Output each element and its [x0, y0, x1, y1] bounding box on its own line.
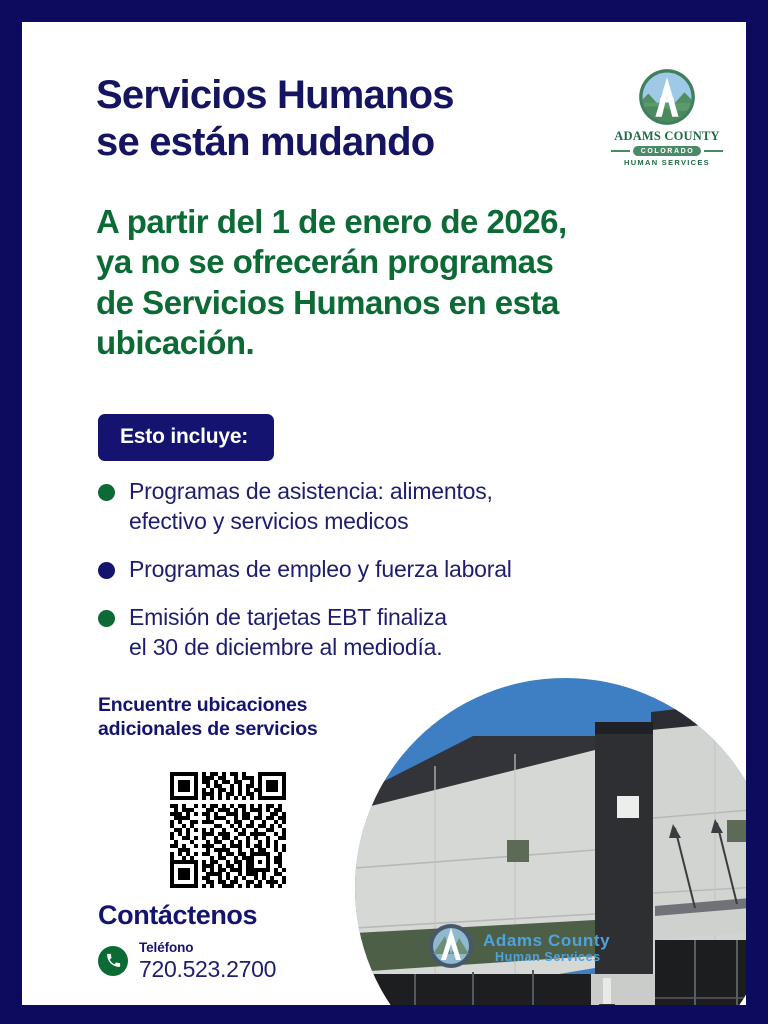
- title-line-2: se están mudando: [96, 119, 566, 166]
- contact-title: Contáctenos: [98, 900, 276, 931]
- find-line-1: Encuentre ubicaciones: [98, 694, 408, 718]
- list-item: Emisión de tarjetas EBT finaliza el 30 d…: [98, 603, 698, 663]
- lead-line-4: ubicación.: [96, 323, 706, 363]
- phone-label: Teléfono: [139, 940, 193, 955]
- bullet-dot-icon: [98, 610, 115, 627]
- list-item-line-2: el 30 de diciembre al mediodía.: [129, 634, 442, 660]
- svg-text:Adams County: Adams County: [483, 931, 610, 950]
- qr-code-icon[interactable]: [170, 772, 286, 888]
- building-photo: Adams County Human Services: [355, 678, 746, 1005]
- list-item-line-1: Programas de asistencia: alimentos,: [129, 478, 493, 504]
- poster-root: Servicios Humanos se están mudando: [0, 0, 768, 1024]
- lead-line-3: de Servicios Humanos en esta: [96, 283, 706, 323]
- includes-badge: Esto incluye:: [98, 414, 274, 461]
- page-title: Servicios Humanos se están mudando: [96, 72, 566, 166]
- list-item-line-1: Programas de empleo y fuerza laboral: [129, 556, 512, 582]
- adams-county-logo: ADAMS COUNTY COLORADO HUMAN SERVICES: [611, 68, 723, 167]
- mountain-emblem-icon: [638, 68, 696, 126]
- list-item-text: Emisión de tarjetas EBT finaliza el 30 d…: [129, 603, 447, 663]
- list-item: Programas de empleo y fuerza laboral: [98, 555, 698, 585]
- list-item-text: Programas de asistencia: alimentos, efec…: [129, 477, 493, 537]
- title-line-1: Servicios Humanos: [96, 72, 566, 119]
- logo-rule: COLORADO: [611, 146, 723, 156]
- logo-department: HUMAN SERVICES: [611, 158, 723, 167]
- lead-line-2: ya no se ofrecerán programas: [96, 242, 706, 282]
- list-item-line-2: efectivo y servicios medicos: [129, 508, 408, 534]
- phone-icon: [98, 946, 128, 976]
- find-line-2: adicionales de servicios: [98, 718, 408, 742]
- poster-sheet: Servicios Humanos se están mudando: [22, 22, 746, 1005]
- bullet-dot-icon: [98, 484, 115, 501]
- find-locations-heading: Encuentre ubicaciones adicionales de ser…: [98, 694, 408, 742]
- building-photo-image: Adams County Human Services: [355, 678, 746, 1005]
- logo-rule-right: [704, 150, 723, 152]
- bullet-dot-icon: [98, 562, 115, 579]
- list-item: Programas de asistencia: alimentos, efec…: [98, 477, 698, 537]
- phone-number[interactable]: 720.523.2700: [139, 956, 276, 982]
- phone-handset-icon: [105, 952, 122, 969]
- svg-text:Human Services: Human Services: [495, 950, 601, 964]
- lead-line-1: A partir del 1 de enero de 2026,: [96, 202, 706, 242]
- list-item-line-1: Emisión de tarjetas EBT finaliza: [129, 604, 447, 630]
- lead-statement: A partir del 1 de enero de 2026, ya no s…: [96, 202, 706, 363]
- includes-list: Programas de asistencia: alimentos, efec…: [98, 477, 698, 680]
- logo-state: COLORADO: [633, 146, 702, 156]
- poster-header: Servicios Humanos se están mudando: [22, 22, 746, 142]
- qr-code[interactable]: [170, 772, 286, 888]
- logo-rule-left: [611, 150, 630, 152]
- list-item-text: Programas de empleo y fuerza laboral: [129, 555, 512, 585]
- contact-phone-text: Teléfono 720.523.2700: [139, 939, 276, 983]
- contact-section: Contáctenos Teléfono 720.523.2700: [98, 900, 276, 983]
- contact-phone-row[interactable]: Teléfono 720.523.2700: [98, 939, 276, 983]
- logo-name: ADAMS COUNTY: [611, 129, 723, 144]
